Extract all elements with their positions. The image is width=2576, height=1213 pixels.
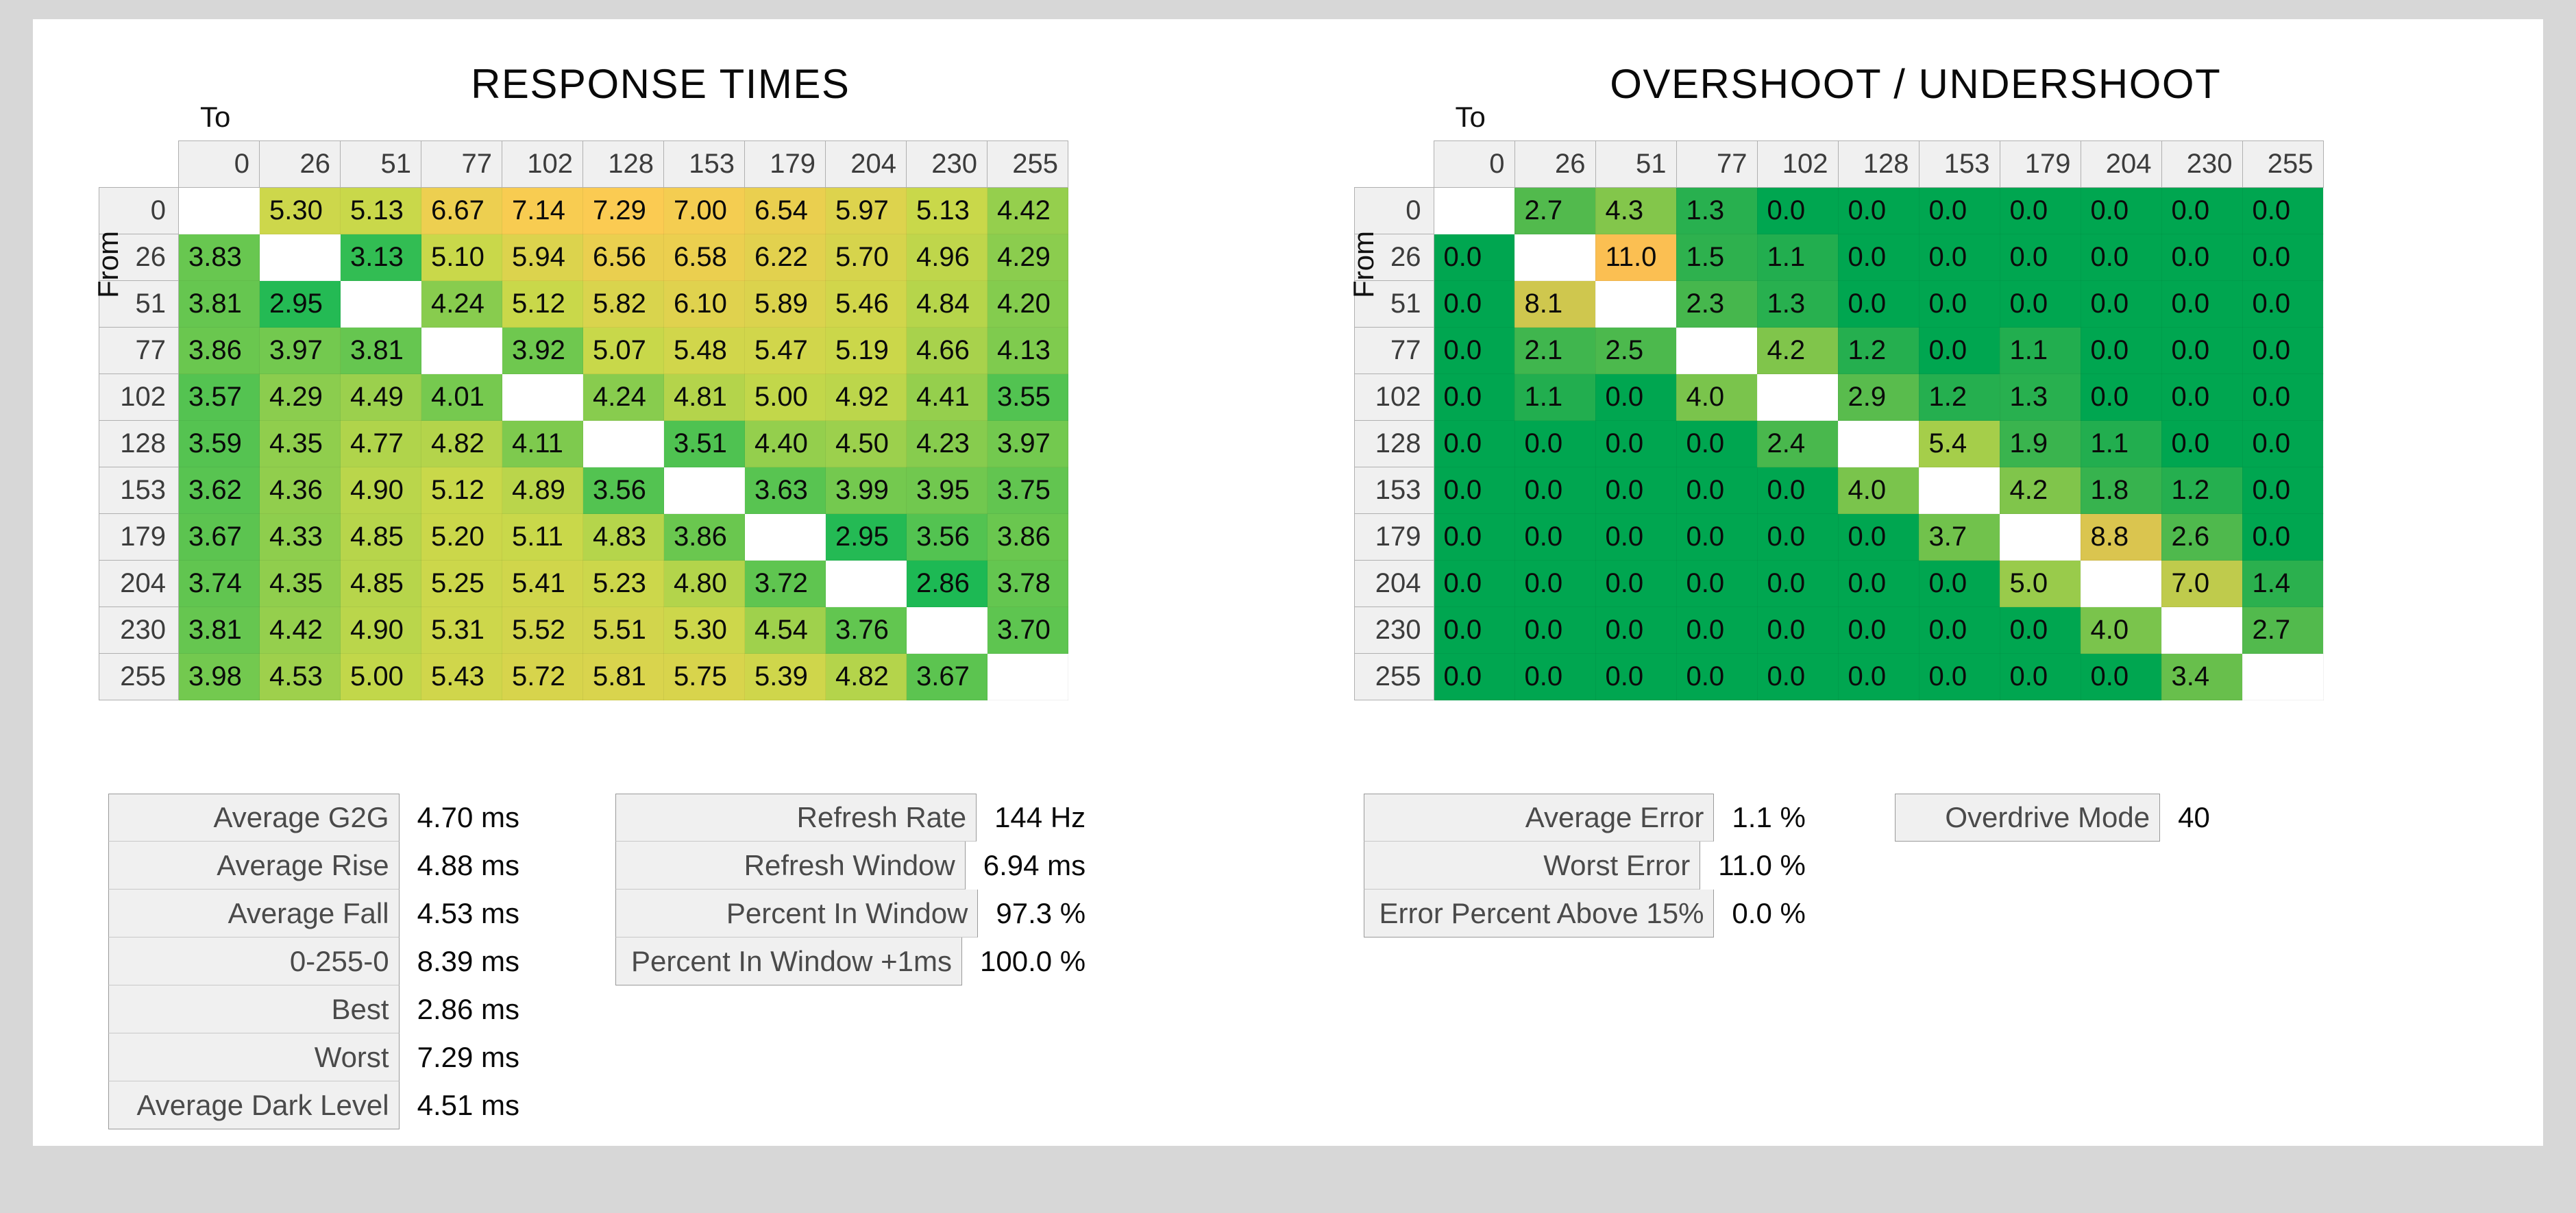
matrix-cell: 5.19: [826, 328, 907, 374]
matrix-cell: 0.0: [1676, 467, 1757, 514]
stat-label: Percent In Window: [615, 890, 978, 938]
matrix-cell: 0.0: [2000, 607, 2081, 654]
matrix-cell: 4.36: [260, 467, 341, 514]
matrix-cell: 5.20: [421, 514, 502, 561]
row-header-179: 179: [1354, 514, 1434, 561]
matrix-cell-diagonal: [260, 234, 341, 281]
stat-row: Average Fall4.53 ms: [108, 890, 519, 938]
matrix-cell: 8.1: [1514, 281, 1595, 328]
matrix-cell: 4.66: [907, 328, 988, 374]
matrix-cell: 0.0: [2081, 374, 2161, 421]
stats-response-secondary: Refresh Rate144 HzRefresh Window6.94 msP…: [615, 794, 1085, 985]
row-header-0: 0: [99, 188, 179, 234]
matrix-cell-diagonal: [826, 561, 907, 607]
table-row: 2040.00.00.00.00.00.00.05.07.01.4: [1354, 561, 2323, 607]
stat-row: Worst7.29 ms: [108, 1033, 519, 1081]
matrix-cell: 1.1: [1514, 374, 1595, 421]
stats-area-response: Average G2G4.70 msAverage Rise4.88 msAve…: [108, 794, 1085, 1129]
matrix-cell: 0.0: [2161, 328, 2242, 374]
matrix-cell: 5.00: [341, 654, 421, 700]
stat-label: Worst Error: [1364, 842, 1701, 890]
stat-value: 100.0 %: [962, 938, 1085, 985]
matrix-cell: 3.67: [907, 654, 988, 700]
matrix-cell: 0.0: [1838, 514, 1919, 561]
matrix-cell: 3.4: [2161, 654, 2242, 700]
matrix-cell: 0.0: [1676, 654, 1757, 700]
matrix-cell: 5.07: [583, 328, 664, 374]
matrix-cell: 0.0: [1838, 234, 1919, 281]
stats-area-overshoot: Average Error1.1 %Worst Error11.0 %Error…: [1364, 794, 2210, 938]
column-header-255: 255: [988, 141, 1068, 188]
matrix-cell: 0.0: [2242, 328, 2323, 374]
matrix-cell: 0.0: [1434, 654, 1514, 700]
matrix-cell: 5.81: [583, 654, 664, 700]
matrix-cell: 0.0: [1757, 561, 1838, 607]
matrix-cell: 5.10: [421, 234, 502, 281]
matrix-cell: 5.30: [664, 607, 745, 654]
matrix-cell: 4.0: [1838, 467, 1919, 514]
matrix-cell: 4.77: [341, 421, 421, 467]
overshoot-matrix: 026517710212815317920423025502.74.31.30.…: [1354, 140, 2324, 700]
matrix-cell: 0.0: [2242, 421, 2323, 467]
matrix-cell-diagonal: [2081, 561, 2161, 607]
matrix-cell: 3.83: [179, 234, 260, 281]
row-header-77: 77: [1354, 328, 1434, 374]
matrix-cell: 0.0: [1514, 514, 1595, 561]
table-row: 1020.01.10.04.02.91.21.30.00.00.0: [1354, 374, 2323, 421]
matrix-cell: 5.51: [583, 607, 664, 654]
matrix-cell: 4.23: [907, 421, 988, 467]
matrix-cell: 6.10: [664, 281, 745, 328]
axis-label-to-right: To: [1456, 101, 1486, 134]
row-header-77: 77: [99, 328, 179, 374]
matrix-cell: 3.56: [907, 514, 988, 561]
matrix-cell: 4.0: [2081, 607, 2161, 654]
column-header-0: 0: [1434, 141, 1514, 188]
matrix-cell: 0.0: [1919, 328, 2000, 374]
matrix-cell: 2.7: [2242, 607, 2323, 654]
matrix-cell: 2.95: [826, 514, 907, 561]
stat-value: 7.29 ms: [400, 1033, 519, 1081]
matrix-cell: 0.0: [1514, 607, 1595, 654]
table-row: 1283.594.354.774.824.113.514.404.504.233…: [99, 421, 1068, 467]
matrix-cell: 3.76: [826, 607, 907, 654]
matrix-cell: 3.67: [179, 514, 260, 561]
stat-row: Refresh Window6.94 ms: [615, 842, 1085, 890]
matrix-cell: 4.29: [260, 374, 341, 421]
stat-label: Worst: [108, 1033, 400, 1081]
matrix-cell: 0.0: [1757, 467, 1838, 514]
matrix-cell: 0.0: [1434, 607, 1514, 654]
stats-overshoot-primary: Average Error1.1 %Worst Error11.0 %Error…: [1364, 794, 1806, 938]
column-header-26: 26: [1514, 141, 1595, 188]
matrix-cell: 4.24: [421, 281, 502, 328]
matrix-cell: 3.86: [988, 514, 1068, 561]
matrix-cell: 4.29: [988, 234, 1068, 281]
matrix-cell: 4.80: [664, 561, 745, 607]
matrix-cell: 4.42: [260, 607, 341, 654]
matrix-cell: 4.53: [260, 654, 341, 700]
matrix-cell: 0.0: [1595, 607, 1676, 654]
matrix-cell: 0.0: [1595, 561, 1676, 607]
matrix-cell: 5.47: [745, 328, 826, 374]
matrix-cell: 0.0: [1919, 607, 2000, 654]
matrix-cell-diagonal: [1595, 281, 1676, 328]
matrix-cell: 6.58: [664, 234, 745, 281]
stat-row: Refresh Rate144 Hz: [615, 794, 1085, 842]
matrix-cell: 0.0: [1514, 467, 1595, 514]
stat-row: Best2.86 ms: [108, 985, 519, 1033]
matrix-cell: 0.0: [2000, 654, 2081, 700]
column-header-128: 128: [583, 141, 664, 188]
matrix-cell: 0.0: [1676, 514, 1757, 561]
stat-label: Error Percent Above 15%: [1364, 890, 1715, 938]
stat-label: 0-255-0: [108, 938, 400, 985]
stat-row: Percent In Window +1ms100.0 %: [615, 938, 1085, 985]
matrix-cell-diagonal: [1757, 374, 1838, 421]
matrix-cell: 0.0: [2161, 188, 2242, 234]
matrix-cell: 4.24: [583, 374, 664, 421]
stat-label: Refresh Rate: [615, 794, 977, 842]
stat-row: Average Rise4.88 ms: [108, 842, 519, 890]
panel-overshoot-undershoot: OVERSHOOT / UNDERSHOOT To From 026517710…: [1288, 19, 2544, 700]
matrix-cell: 4.90: [341, 467, 421, 514]
table-row: 2300.00.00.00.00.00.00.00.04.02.7: [1354, 607, 2323, 654]
matrix-cell-diagonal: [907, 607, 988, 654]
matrix-cell-diagonal: [2000, 514, 2081, 561]
matrix-cell: 4.89: [502, 467, 583, 514]
table-row: 2550.00.00.00.00.00.00.00.00.03.4: [1354, 654, 2323, 700]
matrix-cell: 4.49: [341, 374, 421, 421]
matrix-cell: 4.42: [988, 188, 1068, 234]
matrix-cell: 4.2: [2000, 467, 2081, 514]
matrix-cell: 4.0: [1676, 374, 1757, 421]
matrix-cell-diagonal: [1676, 328, 1757, 374]
matrix-cell: 0.0: [2242, 467, 2323, 514]
column-header-204: 204: [2081, 141, 2161, 188]
matrix-cell: 4.3: [1595, 188, 1676, 234]
matrix-corner: [99, 141, 179, 188]
matrix-cell: 5.11: [502, 514, 583, 561]
column-header-179: 179: [2000, 141, 2081, 188]
matrix-cell: 4.83: [583, 514, 664, 561]
matrix-cell: 5.00: [745, 374, 826, 421]
row-header-128: 128: [99, 421, 179, 467]
matrix-cell-diagonal: [1919, 467, 2000, 514]
matrix-cell: 5.72: [502, 654, 583, 700]
column-header-204: 204: [826, 141, 907, 188]
matrix-cell: 3.57: [179, 374, 260, 421]
stat-row: 0-255-08.39 ms: [108, 938, 519, 985]
stat-label: Average Fall: [108, 890, 400, 938]
stat-row: Overdrive Mode40: [1895, 794, 2210, 842]
table-row: 1280.00.00.00.02.45.41.91.10.00.0: [1354, 421, 2323, 467]
matrix-cell: 1.5: [1676, 234, 1757, 281]
matrix-cell-diagonal: [1838, 421, 1919, 467]
matrix-cell: 0.0: [1757, 188, 1838, 234]
matrix-cell: 6.54: [745, 188, 826, 234]
matrix-cell: 6.22: [745, 234, 826, 281]
report-sheet: RESPONSE TIMES To From 02651771021281531…: [33, 19, 2543, 1146]
matrix-cell: 7.29: [583, 188, 664, 234]
matrix-cell: 3.95: [907, 467, 988, 514]
matrix-cell: 1.2: [1919, 374, 2000, 421]
table-row: 263.833.135.105.946.566.586.225.704.964.…: [99, 234, 1068, 281]
matrix-cell: 4.85: [341, 514, 421, 561]
matrix-cell: 3.74: [179, 561, 260, 607]
column-header-153: 153: [1919, 141, 2000, 188]
matrix-cell: 5.12: [421, 467, 502, 514]
row-header-255: 255: [99, 654, 179, 700]
matrix-cell: 5.13: [907, 188, 988, 234]
matrix-cell: 0.0: [1676, 607, 1757, 654]
matrix-cell: 5.25: [421, 561, 502, 607]
matrix-cell: 3.81: [179, 281, 260, 328]
table-row: 510.08.12.31.30.00.00.00.00.00.0: [1354, 281, 2323, 328]
matrix-cell: 0.0: [2242, 514, 2323, 561]
matrix-cell: 5.89: [745, 281, 826, 328]
column-header-77: 77: [1676, 141, 1757, 188]
matrix-cell: 8.8: [2081, 514, 2161, 561]
column-header-102: 102: [502, 141, 583, 188]
matrix-cell: 2.6: [2161, 514, 2242, 561]
matrix-cell: 3.13: [341, 234, 421, 281]
matrix-cell: 3.86: [664, 514, 745, 561]
matrix-cell: 0.0: [1595, 654, 1676, 700]
stat-label: Average Dark Level: [108, 1081, 400, 1129]
matrix-cell: 0.0: [1595, 421, 1676, 467]
matrix-cell: 3.81: [341, 328, 421, 374]
table-row: 770.02.12.54.21.20.01.10.00.00.0: [1354, 328, 2323, 374]
stat-value: 4.88 ms: [400, 842, 519, 890]
matrix-cell: 4.81: [664, 374, 745, 421]
matrix-cell-diagonal: [2161, 607, 2242, 654]
stat-value: 4.70 ms: [400, 794, 519, 842]
row-header-153: 153: [99, 467, 179, 514]
matrix-cell: 1.3: [2000, 374, 2081, 421]
column-header-230: 230: [907, 141, 988, 188]
matrix-cell: 4.96: [907, 234, 988, 281]
matrix-cell: 7.00: [664, 188, 745, 234]
matrix-cell: 7.14: [502, 188, 583, 234]
column-header-179: 179: [745, 141, 826, 188]
matrix-cell: 5.13: [341, 188, 421, 234]
response-time-report: RESPONSE TIMES To From 02651771021281531…: [0, 0, 2576, 1213]
matrix-cell: 0.0: [2081, 328, 2161, 374]
matrix-cell: 3.81: [179, 607, 260, 654]
matrix-cell-diagonal: [1514, 234, 1595, 281]
matrix-cell: 2.4: [1757, 421, 1838, 467]
column-header-26: 26: [260, 141, 341, 188]
matrix-cell: 0.0: [1434, 514, 1514, 561]
matrix-cell: 0.0: [2081, 188, 2161, 234]
stat-label: Percent In Window +1ms: [615, 938, 962, 985]
table-row: 2043.744.354.855.255.415.234.803.722.863…: [99, 561, 1068, 607]
stat-row: Error Percent Above 15%0.0 %: [1364, 890, 1806, 938]
matrix-cell: 0.0: [1434, 374, 1514, 421]
matrix-cell: 2.3: [1676, 281, 1757, 328]
table-row: 2303.814.424.905.315.525.515.304.543.763…: [99, 607, 1068, 654]
matrix-cell: 0.0: [1838, 654, 1919, 700]
matrix-cell: 0.0: [1757, 514, 1838, 561]
stat-value: 11.0 %: [1700, 842, 1806, 890]
stat-value: 1.1 %: [1714, 794, 1805, 842]
matrix-cell: 4.82: [421, 421, 502, 467]
table-row: 260.011.01.51.10.00.00.00.00.00.0: [1354, 234, 2323, 281]
matrix-cell: 5.43: [421, 654, 502, 700]
matrix-cell: 0.0: [2161, 234, 2242, 281]
matrix-cell: 0.0: [2161, 374, 2242, 421]
row-header-0: 0: [1354, 188, 1434, 234]
row-header-179: 179: [99, 514, 179, 561]
matrix-cell: 3.75: [988, 467, 1068, 514]
stat-row: Average Error1.1 %: [1364, 794, 1806, 842]
matrix-cell-diagonal: [583, 421, 664, 467]
matrix-cell: 5.82: [583, 281, 664, 328]
matrix-cell-diagonal: [988, 654, 1068, 700]
stats-overshoot-secondary: Overdrive Mode40: [1895, 794, 2210, 842]
matrix-cell: 4.82: [826, 654, 907, 700]
matrix-cell: 0.0: [1838, 281, 1919, 328]
matrix-cell: 0.0: [1514, 561, 1595, 607]
matrix-cell: 0.0: [1514, 421, 1595, 467]
stat-value: 2.86 ms: [400, 985, 519, 1033]
matrix-cell: 2.7: [1514, 188, 1595, 234]
table-row: 773.863.973.813.925.075.485.475.194.664.…: [99, 328, 1068, 374]
matrix-cell: 0.0: [1595, 374, 1676, 421]
stat-value: 8.39 ms: [400, 938, 519, 985]
column-header-153: 153: [664, 141, 745, 188]
matrix-cell: 1.9: [2000, 421, 2081, 467]
matrix-cell: 0.0: [2000, 281, 2081, 328]
matrix-cell: 0.0: [1919, 654, 2000, 700]
matrix-cell: 2.1: [1514, 328, 1595, 374]
row-header-230: 230: [1354, 607, 1434, 654]
matrix-cell: 5.39: [745, 654, 826, 700]
matrix-cell-diagonal: [745, 514, 826, 561]
matrix-cell: 5.75: [664, 654, 745, 700]
row-header-153: 153: [1354, 467, 1434, 514]
matrix-cell: 4.41: [907, 374, 988, 421]
matrix-cell: 1.1: [2000, 328, 2081, 374]
matrix-cell: 0.0: [1434, 421, 1514, 467]
matrix-cell: 3.51: [664, 421, 745, 467]
matrix-cell: 0.0: [2242, 188, 2323, 234]
stat-label: Overdrive Mode: [1895, 794, 2160, 842]
matrix-cell: 0.0: [2000, 234, 2081, 281]
column-header-255: 255: [2242, 141, 2323, 188]
matrix-wrap-response-times: To From 026517710212815317920423025505.3…: [99, 140, 1288, 700]
stat-value: 4.51 ms: [400, 1081, 519, 1129]
matrix-cell-diagonal: [341, 281, 421, 328]
stat-label: Average G2G: [108, 794, 400, 842]
matrix-cell: 0.0: [1434, 467, 1514, 514]
matrix-cell: 0.0: [1595, 467, 1676, 514]
matrix-cell: 3.78: [988, 561, 1068, 607]
matrix-cell: 0.0: [1838, 607, 1919, 654]
matrix-cell: 0.0: [2242, 281, 2323, 328]
matrix-cell: 5.0: [2000, 561, 2081, 607]
matrix-cell: 4.92: [826, 374, 907, 421]
matrix-cell: 6.67: [421, 188, 502, 234]
matrix-cell: 3.63: [745, 467, 826, 514]
stat-value: 40: [2160, 794, 2210, 842]
matrix-cell: 0.0: [1757, 607, 1838, 654]
row-header-255: 255: [1354, 654, 1434, 700]
matrix-cell: 0.0: [1434, 561, 1514, 607]
stat-label: Best: [108, 985, 400, 1033]
matrix-cell: 0.0: [1919, 281, 2000, 328]
row-header-128: 128: [1354, 421, 1434, 467]
matrix-cell: 4.54: [745, 607, 826, 654]
matrix-cell-diagonal: [502, 374, 583, 421]
column-header-51: 51: [341, 141, 421, 188]
matrix-cell: 5.94: [502, 234, 583, 281]
matrix-cell: 3.55: [988, 374, 1068, 421]
stats-response-primary: Average G2G4.70 msAverage Rise4.88 msAve…: [108, 794, 519, 1129]
matrix-cell: 5.23: [583, 561, 664, 607]
matrix-cell: 5.41: [502, 561, 583, 607]
matrix-cell-diagonal: [1434, 188, 1514, 234]
matrix-cell: 4.33: [260, 514, 341, 561]
matrix-cell: 7.0: [2161, 561, 2242, 607]
matrix-cell: 3.72: [745, 561, 826, 607]
matrix-cell: 0.0: [1919, 234, 2000, 281]
matrix-cell-diagonal: [179, 188, 260, 234]
table-row: 1793.674.334.855.205.114.833.862.953.563…: [99, 514, 1068, 561]
matrix-cell: 5.48: [664, 328, 745, 374]
matrix-cell-diagonal: [664, 467, 745, 514]
table-row: 1790.00.00.00.00.00.03.78.82.60.0: [1354, 514, 2323, 561]
matrix-cell: 0.0: [1838, 561, 1919, 607]
matrix-wrap-overshoot: To From 026517710212815317920423025502.7…: [1354, 140, 2544, 700]
stat-label: Average Rise: [108, 842, 400, 890]
stat-label: Refresh Window: [615, 842, 966, 890]
panel-container: RESPONSE TIMES To From 02651771021281531…: [33, 19, 2543, 700]
table-row: 1530.00.00.00.00.04.04.21.81.20.0: [1354, 467, 2323, 514]
column-header-230: 230: [2161, 141, 2242, 188]
matrix-cell: 3.59: [179, 421, 260, 467]
matrix-cell: 2.5: [1595, 328, 1676, 374]
table-row: 1023.574.294.494.014.244.815.004.924.413…: [99, 374, 1068, 421]
matrix-cell: 0.0: [2161, 421, 2242, 467]
matrix-cell: 4.84: [907, 281, 988, 328]
axis-label-to-left: To: [200, 101, 230, 134]
matrix-cell: 1.3: [1757, 281, 1838, 328]
stat-value: 97.3 %: [978, 890, 1085, 938]
matrix-cell: 11.0: [1595, 234, 1676, 281]
matrix-cell: 0.0: [2000, 188, 2081, 234]
table-row: 1533.624.364.905.124.893.563.633.993.953…: [99, 467, 1068, 514]
matrix-cell: 0.0: [2081, 654, 2161, 700]
matrix-cell: 0.0: [1434, 234, 1514, 281]
column-header-51: 51: [1595, 141, 1676, 188]
matrix-cell: 0.0: [1919, 188, 2000, 234]
matrix-cell: 3.7: [1919, 514, 2000, 561]
column-header-102: 102: [1757, 141, 1838, 188]
matrix-cell-diagonal: [2242, 654, 2323, 700]
matrix-cell: 0.0: [1838, 188, 1919, 234]
matrix-cell: 0.0: [1434, 281, 1514, 328]
matrix-cell: 3.86: [179, 328, 260, 374]
matrix-cell: 5.30: [260, 188, 341, 234]
row-header-102: 102: [99, 374, 179, 421]
matrix-cell: 2.95: [260, 281, 341, 328]
matrix-cell: 0.0: [1595, 514, 1676, 561]
table-row: 02.74.31.30.00.00.00.00.00.00.0: [1354, 188, 2323, 234]
stat-value: 6.94 ms: [966, 842, 1085, 890]
matrix-cell: 5.52: [502, 607, 583, 654]
